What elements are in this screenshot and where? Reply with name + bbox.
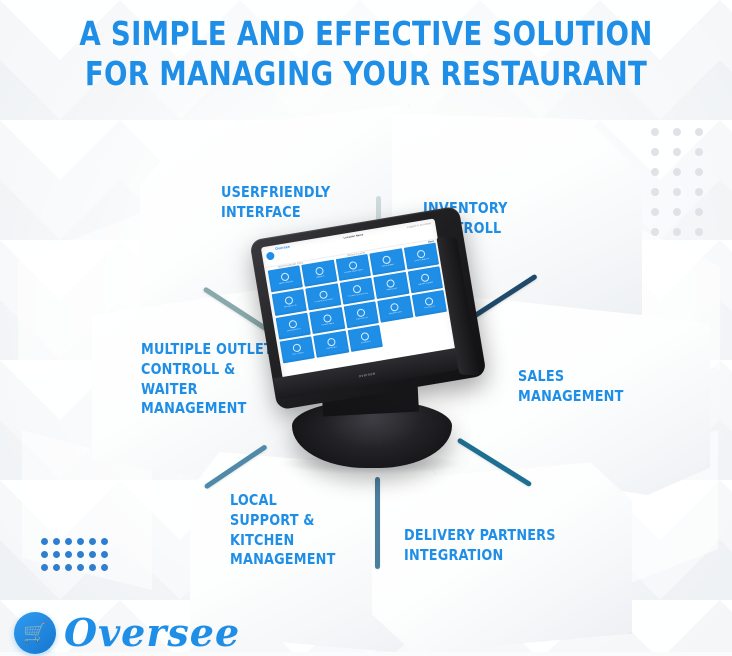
cash-icon — [285, 296, 294, 305]
waiter-icon — [386, 279, 395, 288]
pos-tile[interactable]: PRINT BILL — [310, 307, 346, 334]
decorative-dot — [695, 208, 703, 216]
printer-icon — [322, 314, 331, 323]
decorative-dot — [695, 188, 703, 196]
inventory-icon — [390, 303, 399, 312]
pos-tile[interactable]: REPORTS — [344, 301, 380, 328]
feature-label-multiple-outlet: MULTIPLE OUTLET CONTROLL & WAITER MANAGE… — [141, 340, 273, 419]
pos-tile-label: WAITERS — [386, 288, 397, 292]
decorative-dot — [65, 551, 72, 558]
pos-tile[interactable]: KITCHEN ORDER — [306, 283, 342, 310]
decorative-dot — [695, 228, 703, 236]
decorative-dot — [651, 228, 659, 236]
pos-tile[interactable]: TABLES — [302, 260, 338, 287]
decorative-dot — [673, 128, 681, 136]
box-icon — [348, 261, 357, 270]
feature-label-sales-management: SALES MANAGEMENT — [518, 367, 624, 407]
decorative-dot — [673, 148, 681, 156]
decorative-dot — [651, 148, 659, 156]
pos-tile[interactable]: SETTINGS — [280, 336, 316, 363]
logo-text: Oversee — [64, 614, 240, 652]
pos-tile-label: SUPPORT — [326, 346, 338, 350]
menu-icon — [420, 273, 429, 282]
decorative-dot — [53, 564, 60, 571]
feature-label-local-support: LOCAL SUPPORT & KITCHEN MANAGEMENT — [230, 491, 336, 570]
pos-screen-brand-name: Oversee — [275, 245, 290, 251]
pos-tile-label: HOME DELIVERY — [344, 269, 364, 275]
pos-tile-label: SETTINGS — [292, 352, 304, 356]
decorative-dot — [89, 538, 96, 545]
pos-tile-label: CUSTOMERS — [414, 258, 429, 263]
decorative-dot — [673, 228, 681, 236]
logo-badge: 🛒 — [14, 612, 56, 654]
decorative-dot — [651, 128, 659, 136]
pos-tile[interactable]: INVENTORY — [377, 296, 413, 323]
pos-tile[interactable]: PAYMENTS — [272, 289, 308, 316]
decorative-dot — [41, 551, 48, 558]
headline-line-1: A SIMPLE AND EFFECTIVE SOLUTION — [26, 14, 707, 54]
pos-tile-label: NEW ORDER — [279, 281, 294, 286]
user-icon — [416, 250, 425, 259]
pos-tile-label: DISCOUNTS — [287, 328, 301, 333]
brand-logo[interactable]: 🛒 Oversee — [14, 612, 240, 654]
report-icon — [356, 309, 365, 318]
discount-icon — [289, 320, 298, 329]
decorative-dot-grid-left — [41, 538, 113, 577]
decorative-dot — [101, 538, 108, 545]
kitchen-icon — [319, 291, 328, 300]
decorative-dot — [673, 168, 681, 176]
pos-tile[interactable]: WAITERS — [373, 272, 409, 299]
decorative-dot — [53, 538, 60, 545]
pos-tile[interactable]: MENU ITEMS — [407, 266, 443, 293]
decorative-dot — [41, 538, 48, 545]
pos-tile[interactable]: HOME DELIVERY — [336, 254, 372, 281]
feature-label-delivery-partners: DELIVERY PARTNERS INTEGRATION — [404, 526, 556, 566]
decorative-dot — [77, 564, 84, 571]
headline-line-2: FOR MANAGING YOUR RESTAURANT — [26, 54, 707, 94]
decorative-dot — [651, 188, 659, 196]
pos-tile[interactable]: TAKE AWAY — [370, 248, 406, 275]
logout-icon — [360, 332, 369, 341]
pos-tile-label: REPORTS — [356, 317, 368, 321]
page-title: A SIMPLE AND EFFECTIVE SOLUTION FOR MANA… — [0, 14, 732, 95]
pos-tile-label: LOGOUT — [361, 341, 371, 345]
pos-tile-label: TABLES — [316, 276, 325, 280]
decorative-dot — [101, 564, 108, 571]
pos-tile-label: OUTLETS — [424, 306, 435, 310]
decorative-dot — [65, 564, 72, 571]
decorative-dot — [41, 564, 48, 571]
decorative-dot — [695, 148, 703, 156]
settings-icon — [293, 344, 302, 353]
decorative-dot — [695, 168, 703, 176]
decorative-dot — [673, 188, 681, 196]
pos-tile-label: PAYMENTS — [284, 305, 297, 309]
pos-terminal: Oversee RESTAURANT POS Location Name Bil… — [262, 222, 482, 452]
pos-tile[interactable]: CUSTOMERS — [403, 243, 439, 270]
pos-tile[interactable]: NEW ORDER — [268, 265, 304, 292]
decorative-dot — [65, 538, 72, 545]
support-icon — [326, 338, 335, 347]
pos-tile-label: INVENTORY — [389, 311, 403, 316]
decorative-dot — [53, 551, 60, 558]
pos-screen-user-line-1: Logged in as Admin — [407, 222, 432, 229]
table-icon — [315, 267, 324, 276]
decorative-dot — [89, 564, 96, 571]
bag-icon — [382, 256, 391, 265]
decorative-dot — [89, 551, 96, 558]
receipt-icon — [281, 273, 290, 282]
decorative-dot — [101, 551, 108, 558]
decorative-dot — [651, 208, 659, 216]
pos-tile[interactable]: DISCOUNTS — [276, 313, 312, 340]
decorative-dot — [77, 538, 84, 545]
pos-tile-label: PRINT BILL — [322, 323, 335, 327]
decorative-dot — [77, 551, 84, 558]
decorative-dot — [651, 168, 659, 176]
decorative-dot — [673, 208, 681, 216]
pos-tile-label: STOCK CONTROL — [348, 293, 369, 299]
pos-tile[interactable]: SUPPORT — [314, 331, 350, 358]
decorative-dot-grid-right — [651, 128, 717, 248]
pos-tile[interactable]: STOCK CONTROL — [340, 278, 376, 305]
pos-screen-title: Location Name — [343, 233, 363, 239]
feature-label-userfriendly-interface: USERFRIENDLY INTERFACE — [221, 183, 330, 223]
outlet-icon — [424, 297, 433, 306]
stock-icon — [352, 285, 361, 294]
pos-tile-label: MENU ITEMS — [418, 282, 433, 287]
pos-device-brand-mark: oversee — [358, 370, 376, 378]
connector-line-bottom — [375, 477, 380, 569]
cart-badge-icon — [266, 251, 275, 260]
shopping-cart-icon: 🛒 — [23, 624, 47, 643]
pos-tile-label: KITCHEN ORDER — [314, 298, 334, 304]
pos-tile[interactable]: LOGOUT — [347, 325, 383, 352]
pos-tile-label: TAKE AWAY — [381, 264, 394, 269]
decorative-dot — [695, 128, 703, 136]
pos-tile[interactable]: OUTLETS — [411, 290, 447, 317]
